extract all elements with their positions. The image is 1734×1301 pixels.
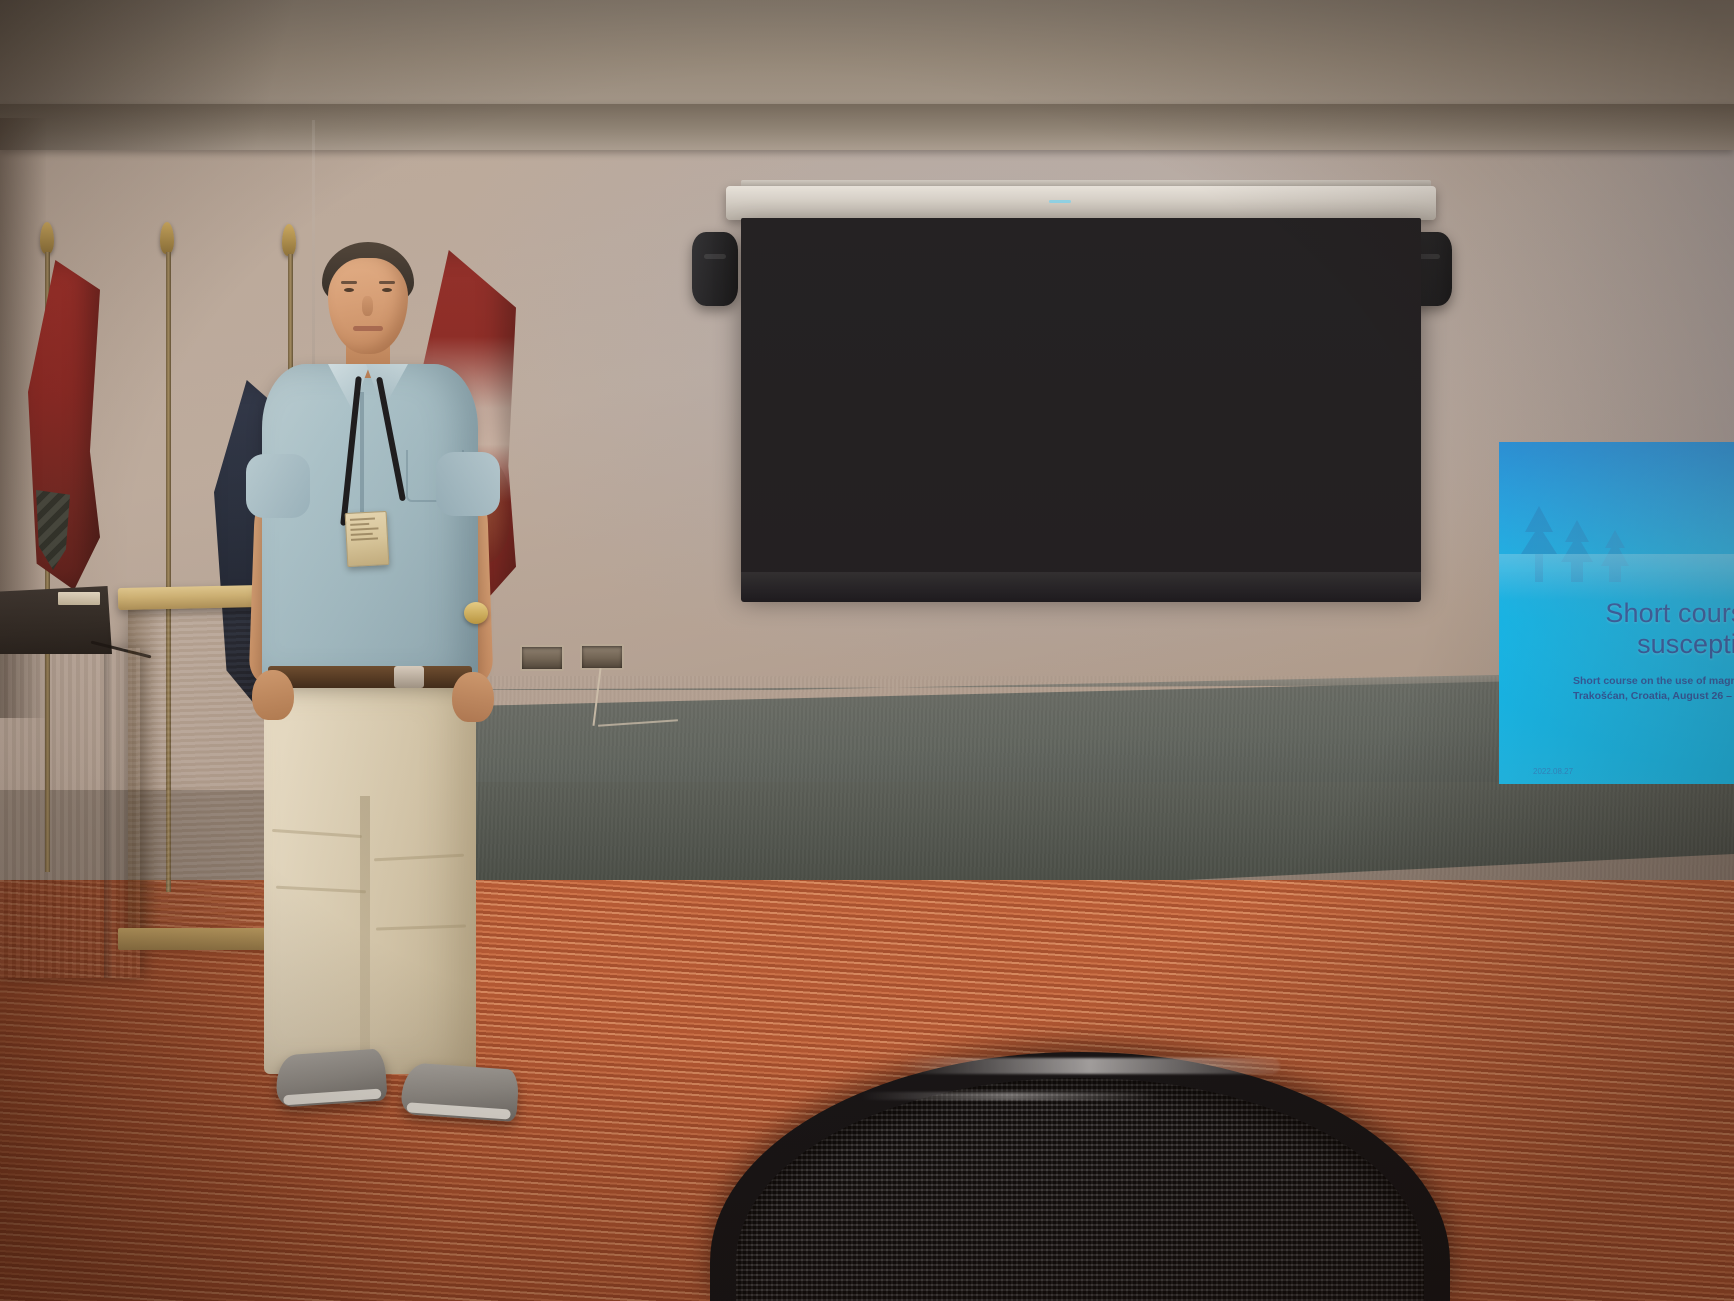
presenter-shoe-left	[274, 1048, 387, 1108]
flagpole-finial-1	[40, 222, 54, 254]
slide-subtitle: Short course on the use of magnetic susc…	[1573, 674, 1734, 704]
presenter-shoe-right	[400, 1062, 519, 1122]
presenter-wristwatch	[464, 602, 488, 624]
ceiling-shadow	[0, 0, 330, 150]
slide-title: Short course on the use of magnetic susc…	[1539, 598, 1734, 661]
presenter-nose	[362, 296, 373, 316]
presenter-mouth	[353, 326, 383, 331]
projection-screen[interactable]: 17th Castle Meeting New Trends in Paleo-…	[741, 218, 1421, 590]
belt-buckle-icon	[394, 666, 424, 688]
presenter-belt	[268, 666, 472, 688]
badge-text-line	[351, 537, 378, 540]
flagpole-finial-2	[160, 222, 174, 254]
screen-status-light-icon	[1049, 200, 1071, 203]
presenter-eye-left	[344, 288, 354, 292]
slide-subtitle-line-1: Short course on the use of magnetic susc…	[1573, 674, 1734, 689]
trouser-leg-seam	[360, 796, 370, 1074]
chair-backrest-frame	[710, 1052, 1450, 1301]
slide-subtitle-line-2: Trakošćan, Croatia, August 26 – 28, 2022	[1573, 689, 1734, 704]
badge-text-line	[350, 518, 375, 521]
wall-speaker-left-icon	[692, 232, 738, 306]
slide-mist-band	[1499, 554, 1734, 600]
foreground-mesh-chair[interactable]	[710, 1052, 1450, 1301]
presenter-eye-right	[382, 288, 392, 292]
table-drape-fold	[104, 648, 112, 978]
shirt-sleeve-right	[436, 452, 500, 516]
presenter-hand-left	[252, 670, 294, 720]
chair-highlight	[900, 1058, 1280, 1074]
wall-connection-panel-2[interactable]	[580, 644, 624, 670]
slide-title-line-1: Short course on the use of magnetic	[1539, 598, 1734, 629]
laptop-brand-label	[58, 592, 100, 605]
screen-bottom-weight-bar	[741, 572, 1421, 602]
presentation-slide: 17th Castle Meeting New Trends in Paleo-…	[1499, 442, 1734, 784]
presenter-eyebrow-left	[341, 281, 357, 284]
chair-highlight	[860, 1092, 1160, 1100]
presenter-hand-right	[452, 672, 494, 722]
slide-footer-date: 2022.08.27	[1533, 767, 1573, 776]
lectern-shadow	[128, 606, 162, 936]
presenter-trousers	[264, 684, 476, 1074]
presenter-eyebrow-right	[379, 281, 395, 284]
photo-scene: 17th Castle Meeting New Trends in Paleo-…	[0, 0, 1734, 1301]
badge-text-line	[350, 523, 369, 526]
shirt-placket	[360, 392, 364, 512]
shirt-sleeve-left	[246, 454, 310, 518]
slide-title-line-2: susceptibility in Earth Sciences	[1539, 629, 1734, 660]
slide-footer: 2022.08.27 Magnetic susceptibility in Ea…	[1499, 767, 1734, 776]
screen-housing[interactable]	[726, 186, 1436, 220]
presenter	[236, 236, 536, 1106]
badge-text-line	[351, 533, 373, 536]
badge-text-line	[350, 527, 378, 530]
conference-name-badge	[345, 511, 390, 567]
shoe-sole	[283, 1089, 381, 1106]
